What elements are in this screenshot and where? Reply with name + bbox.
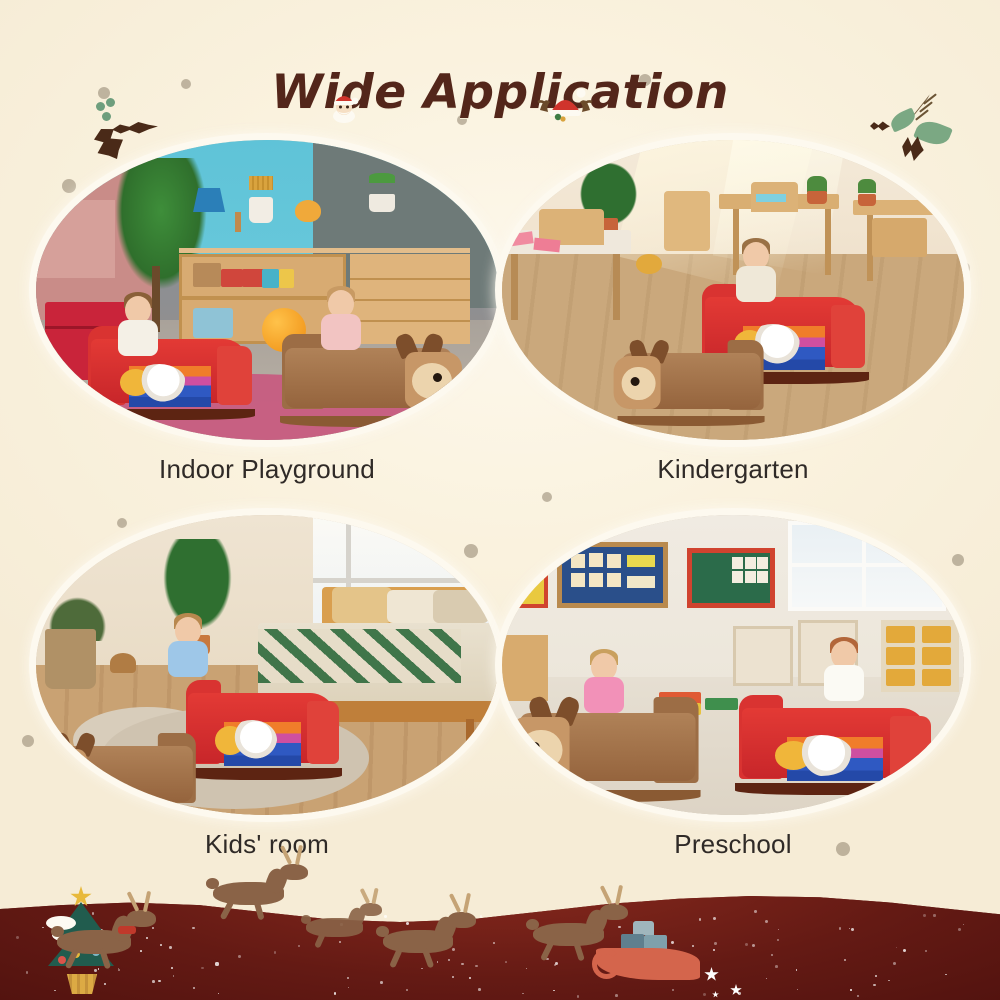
sparkle-dot xyxy=(933,914,935,916)
sparkle-dot xyxy=(334,992,336,994)
sparkle-dot xyxy=(850,989,851,990)
sparkle-dot xyxy=(201,967,203,969)
product-sleigh-rocker xyxy=(91,326,248,416)
panel-caption: Kindergarten xyxy=(502,454,964,485)
santa-figure-icon xyxy=(328,90,360,124)
sparkle-dot xyxy=(478,988,481,991)
panel-photo xyxy=(502,140,964,440)
sparkle-dot xyxy=(192,927,195,930)
panel-photo xyxy=(36,515,498,815)
scene-indoor-playground xyxy=(36,140,498,440)
sparkle-dot xyxy=(713,917,716,920)
sparkle-dot xyxy=(945,974,946,975)
page-header: Wide Application xyxy=(0,56,1000,128)
sparkle-dot xyxy=(875,975,876,976)
sparkle-dot xyxy=(765,920,768,923)
panel-preschool[interactable]: Preschool xyxy=(502,515,964,875)
product-reindeer-rocker xyxy=(285,332,451,422)
sparkle-dot xyxy=(160,944,162,946)
panel-kids-room[interactable]: Kids' room xyxy=(36,515,498,875)
sparkle-dot xyxy=(274,951,276,953)
flying-reindeer-icon xyxy=(44,906,156,976)
panel-kindergarten[interactable]: Kindergarten xyxy=(502,140,964,500)
panel-caption: Kids' room xyxy=(36,829,498,860)
sparkle-dot xyxy=(754,910,757,913)
sparkle-dot xyxy=(171,967,173,969)
scene-kindergarten xyxy=(502,140,964,440)
sparkle-dot xyxy=(958,928,961,931)
sparkle-dot xyxy=(238,955,241,958)
panel-caption: Preschool xyxy=(502,829,964,860)
footer-christmas-band xyxy=(0,870,1000,1000)
sparkle-dot xyxy=(16,936,19,939)
panel-caption: Indoor Playground xyxy=(36,454,498,485)
sparkle-dot xyxy=(152,980,155,983)
sparkle-dot xyxy=(703,993,706,996)
sparkle-dot xyxy=(493,942,495,944)
sparkle-dot xyxy=(480,915,483,918)
sparkle-dot xyxy=(714,942,717,945)
product-sleigh-rocker xyxy=(742,695,927,791)
sparkle-dot xyxy=(849,928,850,929)
sparkle-dot xyxy=(380,981,383,984)
santa-sleigh-icon xyxy=(596,918,700,980)
application-scenarios-grid: Indoor Playground xyxy=(28,140,972,880)
sparkle-dot xyxy=(844,959,846,961)
flying-reindeer-icon xyxy=(370,908,476,974)
panel-photo xyxy=(502,515,964,815)
tree-pot-icon xyxy=(64,974,100,994)
sparkle-dot xyxy=(169,946,172,949)
flying-reindeer-icon xyxy=(200,860,308,926)
sparkle-dot xyxy=(771,954,773,956)
sparkle-dot xyxy=(215,962,218,965)
poster-root: Wide Application xyxy=(0,0,1000,1000)
sparkle-dot xyxy=(903,949,906,952)
scene-kids-room xyxy=(36,515,498,815)
product-reindeer-rocker xyxy=(622,338,761,422)
flying-reindeer-icon xyxy=(296,900,382,954)
sparkle-dot xyxy=(796,969,797,970)
sparkle-dot xyxy=(893,962,896,965)
sparkle-dot xyxy=(923,914,926,917)
product-sleigh-rocker xyxy=(188,680,336,776)
panel-photo xyxy=(36,140,498,440)
sparkle-dot xyxy=(888,980,890,982)
scene-preschool xyxy=(502,515,964,815)
santa-hat-with-antlers-icon xyxy=(536,86,594,126)
sparkle-dot xyxy=(158,980,160,982)
product-reindeer-rocker xyxy=(45,731,193,815)
sparkle-dot xyxy=(615,994,618,997)
sparkle-dot xyxy=(873,984,875,986)
sparkle-dot xyxy=(857,995,859,997)
panel-indoor-playground[interactable]: Indoor Playground xyxy=(36,140,498,500)
sparkle-dot xyxy=(26,971,29,974)
